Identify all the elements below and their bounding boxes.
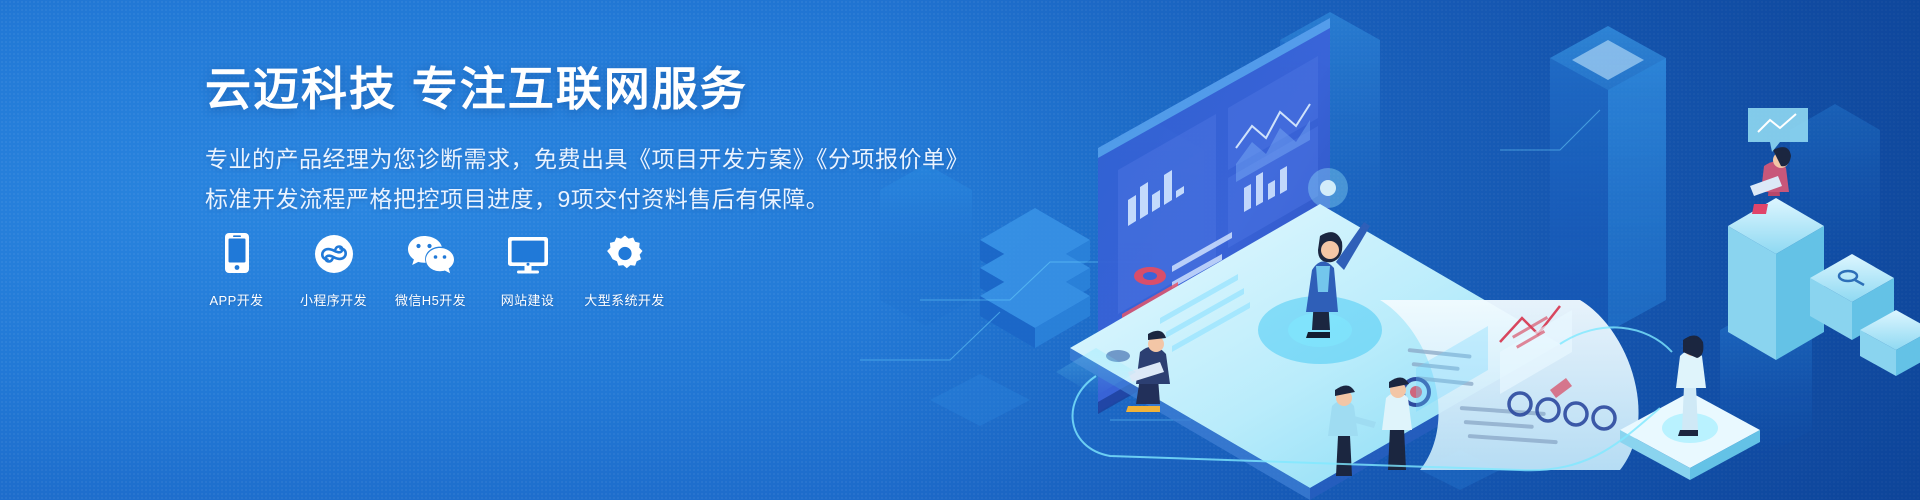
page-title: 云迈科技 专注互联网服务 (205, 62, 925, 116)
monitor-icon (507, 228, 549, 274)
service-list: APP开发 小程序开发 (200, 228, 661, 309)
service-label: 网站建设 (501, 290, 555, 309)
service-label: 微信H5开发 (395, 290, 466, 309)
service-label: 小程序开发 (300, 290, 367, 309)
wechat-icon (407, 228, 455, 274)
service-label: APP开发 (209, 290, 263, 309)
subtitle-line-1: 专业的产品经理为您诊断需求，免费出具《项目开发方案》《分项报价单》 (205, 140, 925, 180)
service-item-app[interactable]: APP开发 (200, 228, 273, 309)
hero-banner: 云迈科技 专注互联网服务 专业的产品经理为您诊断需求，免费出具《项目开发方案》《… (0, 0, 1920, 500)
banner-subtitle: 专业的产品经理为您诊断需求，免费出具《项目开发方案》《分项报价单》 标准开发流程… (205, 140, 925, 219)
gear-icon (605, 228, 645, 274)
service-item-large-system[interactable]: 大型系统开发 (588, 228, 661, 309)
banner-copy: 云迈科技 专注互联网服务 专业的产品经理为您诊断需求，免费出具《项目开发方案》《… (205, 62, 925, 219)
subtitle-line-2: 标准开发流程严格把控项目进度，9项交付资料售后有保障。 (205, 180, 925, 220)
service-item-website[interactable]: 网站建设 (491, 228, 564, 309)
isometric-tech-illustration (860, 0, 1920, 500)
mini-program-icon (314, 228, 354, 274)
service-item-wechat-h5[interactable]: 微信H5开发 (394, 228, 467, 309)
mobile-phone-icon (224, 228, 250, 274)
service-label: 大型系统开发 (584, 290, 664, 309)
service-item-mini-program[interactable]: 小程序开发 (297, 228, 370, 309)
